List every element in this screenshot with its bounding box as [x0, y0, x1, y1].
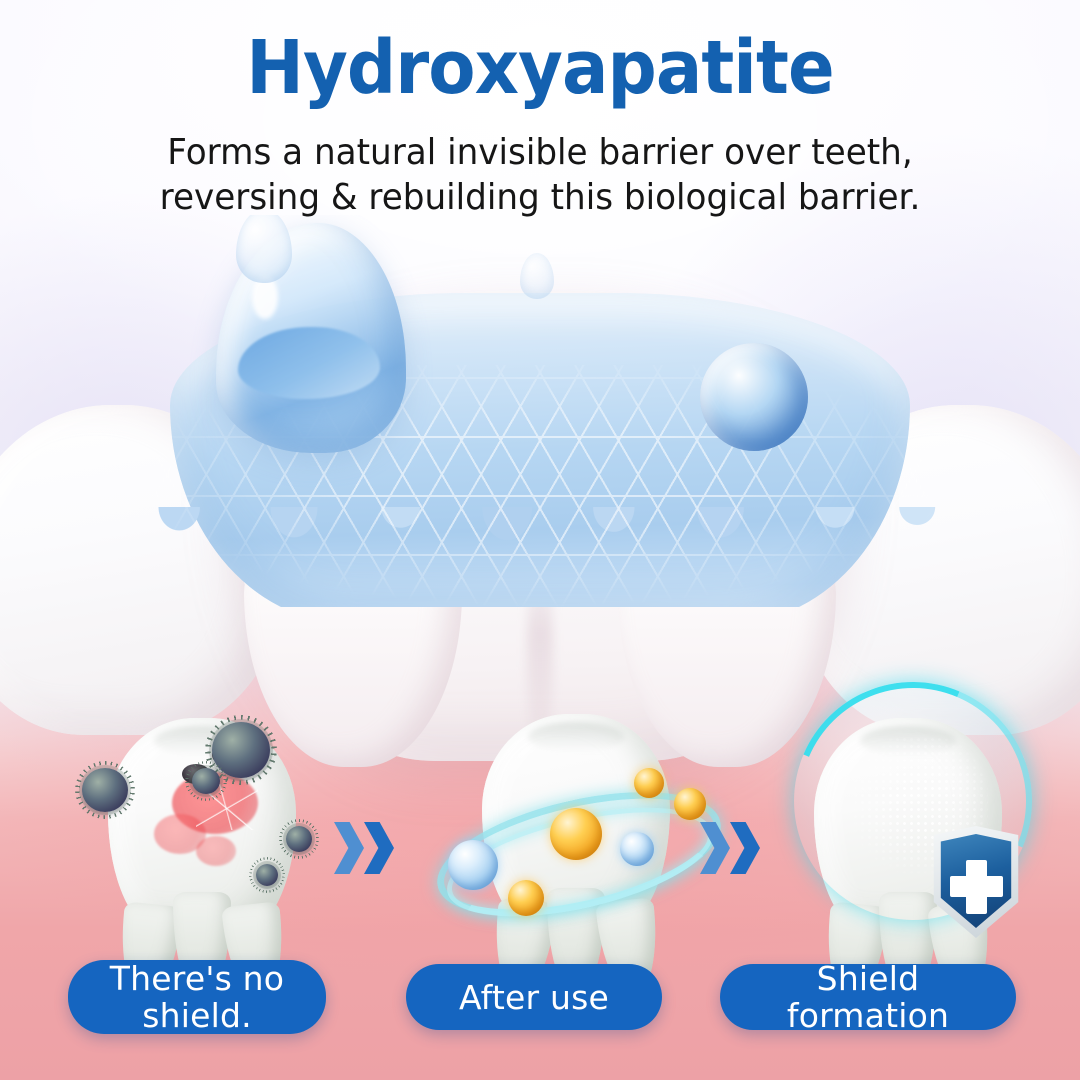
step-3-label-pill[interactable]: Shield formation	[720, 964, 1016, 1030]
molecule-icon	[508, 880, 544, 916]
step-3-illustration	[800, 690, 1060, 952]
shield-plus-icon	[928, 826, 1024, 938]
chevron-stroke	[730, 822, 760, 874]
hero-gel-layer	[0, 215, 1080, 607]
step-2-label-pill[interactable]: After use	[406, 964, 662, 1030]
chevron-stroke	[364, 822, 394, 874]
tooth-crown-dip	[528, 722, 624, 752]
molecule-icon	[674, 788, 706, 820]
chevron-stroke	[334, 822, 364, 874]
inflammation-spot	[196, 836, 236, 866]
gel-droplet-inner	[238, 327, 380, 399]
cross-horizontal-bar	[950, 876, 1003, 897]
double-chevron-right-icon	[334, 822, 410, 874]
page-subtitle: Forms a natural invisible barrier over t…	[84, 130, 996, 220]
page-title: Hydroxyapatite	[38, 27, 1042, 109]
germ-icon	[82, 768, 128, 812]
molecule-icon	[448, 840, 498, 890]
germ-icon	[286, 826, 312, 852]
hero-illustration	[0, 215, 1080, 735]
step-1-label-pill[interactable]: There's no shield.	[68, 960, 326, 1034]
germ-icon	[192, 768, 220, 794]
gel-bubble	[700, 343, 808, 451]
floating-droplet-1	[236, 215, 292, 283]
double-chevron-right-icon	[700, 822, 776, 874]
hydroxyapatite-infographic-poster: Hydroxyapatite Forms a natural invisible…	[0, 0, 1080, 1080]
molecule-icon	[634, 768, 664, 798]
step-1-illustration	[86, 712, 336, 952]
chevron-stroke	[700, 822, 730, 874]
molecule-icon	[620, 832, 654, 866]
step-2-illustration	[452, 712, 702, 952]
germ-icon	[256, 864, 278, 886]
molecule-icon	[550, 808, 602, 860]
floating-droplet-2	[520, 253, 554, 299]
